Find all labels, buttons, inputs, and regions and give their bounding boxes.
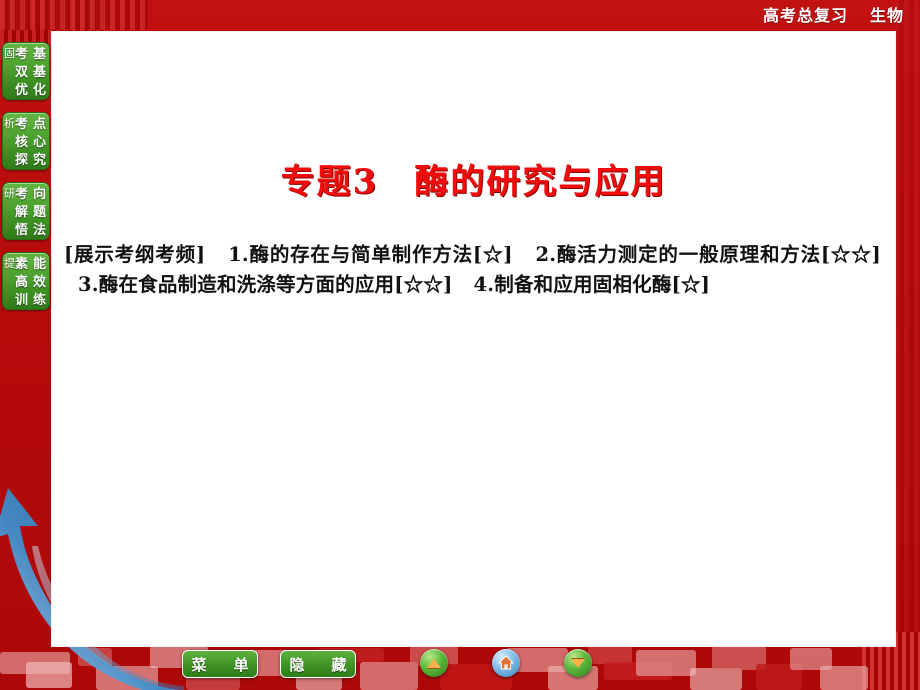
tab3-c0: 素	[15, 257, 28, 273]
decor-stripes-top-left-2	[0, 0, 148, 30]
tab0-c2: 双	[15, 65, 28, 81]
sidebar-tabs: 固 考 基 双 基 优 化 析 考 点 核 心 探 究 研	[2, 42, 50, 310]
syllabus-item-1: 1.酶的存在与简单制作方法[☆]	[228, 243, 513, 266]
tab3-c5: 练	[33, 293, 47, 309]
tab2-c2: 解	[15, 205, 28, 221]
sidebar-tab-consolidate-label: 考 基 双 基 优 化	[15, 47, 47, 99]
presentation-slide: 高考总复习 生物 专题3 酶的研究与应用 [展示考纲考频] 1.酶的存在与简单制…	[0, 0, 920, 690]
tab1-c5: 究	[33, 153, 47, 169]
sidebar-tab-improve-label: 素 能 高 效 训 练	[15, 257, 47, 309]
header-bar: 高考总复习 生物	[763, 0, 920, 28]
tab1-c1: 点	[33, 117, 47, 133]
sidebar-tab-consolidate-lead: 固	[4, 48, 15, 59]
nav-up-icon[interactable]	[420, 649, 448, 677]
syllabus-label: [展示考纲考频]	[64, 243, 205, 266]
sidebar-tab-consolidate[interactable]: 固 考 基 双 基 优 化	[2, 42, 50, 100]
tab0-c1: 基	[33, 47, 47, 63]
tab3-c4: 训	[15, 293, 28, 309]
syllabus-item-3: 3.酶在食品制造和洗涤等方面的应用[☆☆]	[78, 273, 453, 296]
syllabus-paragraph: [展示考纲考频] 1.酶的存在与简单制作方法[☆] 2.酶活力测定的一般原理和方…	[64, 240, 881, 300]
sidebar-tab-improve-lead: 提	[4, 258, 15, 269]
nav-down-icon[interactable]	[564, 649, 592, 677]
syllabus-item-2: 2.酶活力测定的一般原理和方法[☆☆]	[536, 243, 881, 266]
tab1-c2: 核	[15, 135, 28, 151]
tab3-c3: 效	[33, 275, 47, 291]
tab0-c5: 化	[33, 83, 47, 99]
sidebar-tab-analyze-lead: 析	[4, 118, 15, 129]
header-course: 高考总复习	[763, 2, 848, 26]
tab2-c1: 向	[33, 187, 47, 203]
hide-button[interactable]: 隐 藏	[280, 650, 356, 678]
menu-button[interactable]: 菜 单	[182, 650, 258, 678]
tab0-c4: 优	[15, 83, 28, 99]
tab1-c4: 探	[15, 153, 28, 169]
page-title: 专题3 酶的研究与应用	[52, 154, 895, 203]
header-subject: 生物	[870, 2, 904, 26]
tab2-c5: 法	[33, 223, 47, 239]
content-panel: 专题3 酶的研究与应用 [展示考纲考频] 1.酶的存在与简单制作方法[☆] 2.…	[52, 32, 895, 646]
tab1-c0: 考	[15, 117, 28, 133]
decor-stripes-right	[894, 0, 920, 690]
bottom-toolbar: 菜 单 隐 藏	[0, 650, 920, 684]
house-icon	[497, 654, 515, 672]
syllabus-item-4: 4.制备和应用固相化酶[☆]	[473, 273, 710, 296]
nav-icon-group	[420, 649, 592, 677]
tab1-c3: 心	[33, 135, 47, 151]
tab2-c3: 题	[33, 205, 47, 221]
sidebar-tab-analyze[interactable]: 析 考 点 核 心 探 究	[2, 112, 50, 170]
sidebar-tab-research[interactable]: 研 考 向 解 题 悟 法	[2, 182, 50, 240]
sidebar-tab-improve[interactable]: 提 素 能 高 效 训 练	[2, 252, 50, 310]
tab2-c4: 悟	[15, 223, 28, 239]
nav-home-icon[interactable]	[492, 649, 520, 677]
sidebar-tab-analyze-label: 考 点 核 心 探 究	[15, 117, 47, 169]
tab2-c0: 考	[15, 187, 28, 203]
tab3-c2: 高	[15, 275, 28, 291]
tab0-c0: 考	[15, 47, 28, 63]
tab0-c3: 基	[33, 65, 47, 81]
sidebar-tab-research-lead: 研	[4, 188, 15, 199]
sidebar-tab-research-label: 考 向 解 题 悟 法	[15, 187, 47, 239]
tab3-c1: 能	[33, 257, 47, 273]
